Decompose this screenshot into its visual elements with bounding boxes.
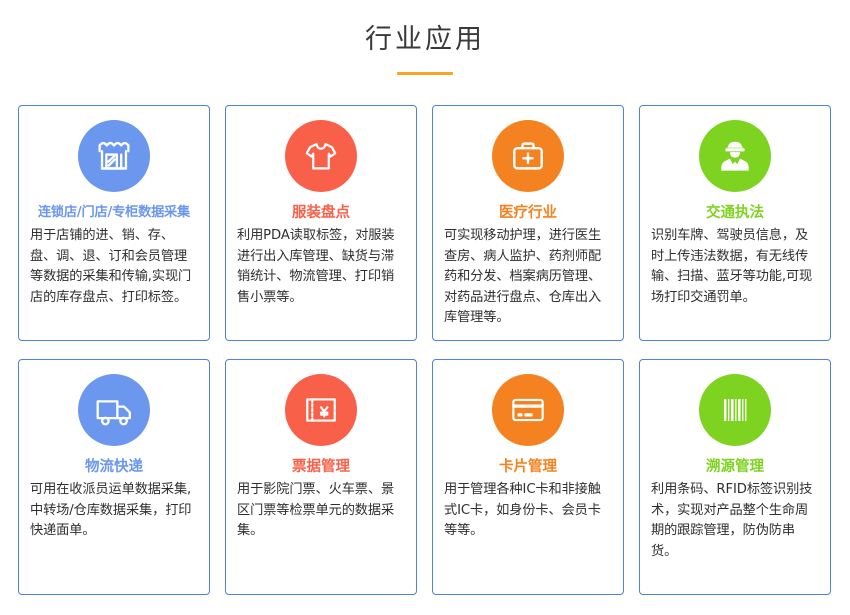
police-officer-icon [699,120,771,192]
tshirt-icon [285,120,357,192]
barcode-icon [699,374,771,446]
page-title: 行业应用 [0,22,850,58]
application-card[interactable]: 卡片管理用于管理各种IC卡和非接触式IC卡，如身份卡、会员卡等等。 [432,359,624,595]
card-description: 用于管理各种IC卡和非接触式IC卡，如身份卡、会员卡等等。 [444,480,612,542]
card-description: 用于影院门票、火车票、景区门票等检票单元的数据采集。 [237,480,405,542]
card-description: 利用条码、RFID标签识别技术，实现对产品整个生命周期的跟踪管理，防伪防串货。 [651,480,819,562]
truck-icon [78,374,150,446]
card-description: 利用PDA读取标签，对服装进行出入库管理、缺货与滞销统计、物流管理、打印销售小票… [237,226,405,308]
application-card[interactable]: 交通执法识别车牌、驾驶员信息，及时上传违法数据，有无线传输、扫描、蓝牙等功能,可… [639,105,831,341]
storefront-icon [78,120,150,192]
card-title: 连锁店/门店/专柜数据采集 [30,203,198,223]
card-title: 服装盘点 [237,203,405,223]
card-title: 溯源管理 [651,457,819,477]
page-header: 行业应用 [0,0,850,75]
card-title: 卡片管理 [444,457,612,477]
credit-card-icon [492,374,564,446]
application-card[interactable]: 服装盘点利用PDA读取标签，对服装进行出入库管理、缺货与滞销统计、物流管理、打印… [225,105,417,341]
application-card[interactable]: 连锁店/门店/专柜数据采集用于店铺的进、销、存、盘、调、退、订和会员管理等数据的… [18,105,210,341]
application-card[interactable]: 物流快递可用在收派员运单数据采集,中转场/仓库数据采集，打印快递面单。 [18,359,210,595]
card-title: 交通执法 [651,203,819,223]
card-title: 医疗行业 [444,203,612,223]
ticket-yen-icon [285,374,357,446]
industry-applications-page: 行业应用 连锁店/门店/专柜数据采集用于店铺的进、销、存、盘、调、退、订和会员管… [0,0,850,615]
application-card-grid: 连锁店/门店/专柜数据采集用于店铺的进、销、存、盘、调、退、订和会员管理等数据的… [18,105,832,595]
title-underline-rule [397,72,453,75]
medical-kit-icon [492,120,564,192]
application-card[interactable]: 票据管理用于影院门票、火车票、景区门票等检票单元的数据采集。 [225,359,417,595]
card-title: 物流快递 [30,457,198,477]
card-description: 识别车牌、驾驶员信息，及时上传违法数据，有无线传输、扫描、蓝牙等功能,可现场打印… [651,226,819,308]
application-card[interactable]: 溯源管理利用条码、RFID标签识别技术，实现对产品整个生命周期的跟踪管理，防伪防… [639,359,831,595]
card-description: 用于店铺的进、销、存、盘、调、退、订和会员管理等数据的采集和传输,实现门店的库存… [30,226,198,308]
card-description: 可用在收派员运单数据采集,中转场/仓库数据采集，打印快递面单。 [30,480,198,542]
card-title: 票据管理 [237,457,405,477]
card-description: 可实现移动护理，进行医生查房、病人监护、药剂师配药和分发、档案病历管理、对药品进… [444,226,612,329]
application-card[interactable]: 医疗行业可实现移动护理，进行医生查房、病人监护、药剂师配药和分发、档案病历管理、… [432,105,624,341]
